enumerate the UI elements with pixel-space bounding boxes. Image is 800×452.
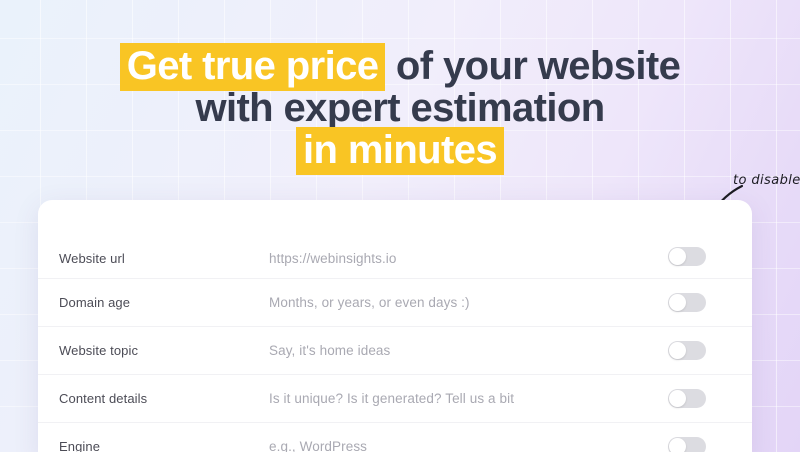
form-row-domain-age[interactable]: Domain age Months, or years, or even day… xyxy=(38,279,752,327)
form-input-website-topic[interactable]: Say, it's home ideas xyxy=(269,343,668,358)
toggle-domain-age[interactable] xyxy=(668,293,706,312)
toggle-knob xyxy=(669,342,686,359)
form-label-domain-age: Domain age xyxy=(59,295,269,310)
toggle-website-url[interactable] xyxy=(668,247,706,266)
toggle-engine[interactable] xyxy=(668,437,706,452)
form-row-engine[interactable]: Engine e.g., WordPress xyxy=(38,423,752,452)
form-row-website-url[interactable]: Website url https://webinsights.io xyxy=(38,200,752,279)
form-input-engine[interactable]: e.g., WordPress xyxy=(269,439,668,452)
headline-line-3: in minutes xyxy=(0,129,800,171)
form-input-domain-age[interactable]: Months, or years, or even days :) xyxy=(269,295,668,310)
headline-line-1-rest: of your website xyxy=(385,44,680,88)
toggle-knob xyxy=(669,390,686,407)
form-row-website-topic[interactable]: Website topic Say, it's home ideas xyxy=(38,327,752,375)
form-label-engine: Engine xyxy=(59,439,269,452)
form-label-content-details: Content details xyxy=(59,391,269,406)
toggle-content-details[interactable] xyxy=(668,389,706,408)
form-input-website-url[interactable]: https://webinsights.io xyxy=(269,251,668,266)
form-label-website-url: Website url xyxy=(59,251,269,266)
headline-line-2: with expert estimation xyxy=(0,87,800,129)
form-label-website-topic: Website topic xyxy=(59,343,269,358)
toggle-knob xyxy=(669,248,686,265)
toggle-website-topic[interactable] xyxy=(668,341,706,360)
page-title: Get true price of your website with expe… xyxy=(0,45,800,171)
headline-highlight-1: Get true price xyxy=(120,43,386,91)
toggle-knob xyxy=(669,438,686,452)
form-row-content-details[interactable]: Content details Is it unique? Is it gene… xyxy=(38,375,752,423)
form-input-content-details[interactable]: Is it unique? Is it generated? Tell us a… xyxy=(269,391,668,406)
annotation-label: to disable xyxy=(733,173,800,188)
page-root: Get true price of your website with expe… xyxy=(0,0,800,452)
toggle-knob xyxy=(669,294,686,311)
headline-highlight-2: in minutes xyxy=(296,127,504,175)
estimation-form-card: Website url https://webinsights.io Domai… xyxy=(38,200,752,452)
headline-line-1: Get true price of your website xyxy=(0,45,800,87)
